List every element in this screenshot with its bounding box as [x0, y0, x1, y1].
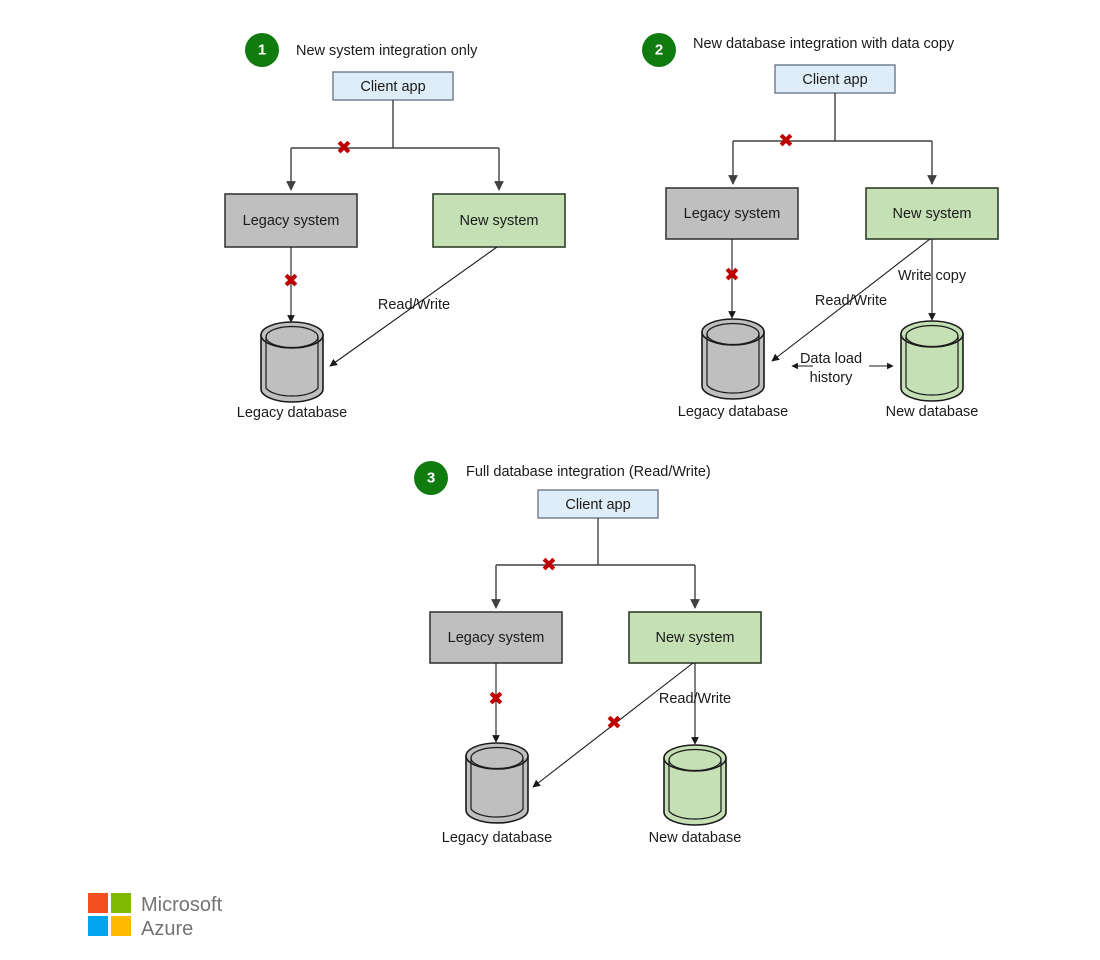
- panel-2-legacy-database-shape: [702, 319, 764, 399]
- panel-3-legacy-database-shape: [466, 743, 528, 823]
- panel-2-blocked-icon-legacy-db: ✖: [724, 264, 740, 286]
- panel-2-legacy-database-label: Legacy database: [678, 404, 788, 420]
- panel-2-blocked-icon-client-legacy: ✖: [778, 130, 794, 152]
- panel-3-badge-number: 3: [427, 470, 435, 487]
- panel-1-client-app-label: Client app: [360, 79, 425, 95]
- panel-1-blocked-icon-legacy-db: ✖: [283, 270, 299, 292]
- panel-1-badge-number: 1: [258, 42, 266, 59]
- panel-3-blocked-icon-new-legacy-db: ✖: [606, 712, 622, 734]
- logo-brand-text: Microsoft: [141, 894, 223, 916]
- panel-3-title: Full database integration (Read/Write): [466, 464, 711, 480]
- panel-1-legacy-database-label: Legacy database: [237, 405, 347, 421]
- panel-1-title: New system integration only: [296, 43, 478, 59]
- logo-square-red: [88, 893, 108, 913]
- panel-2-badge-number: 2: [655, 42, 663, 59]
- logo-square-blue: [88, 916, 108, 936]
- panel-2-new-database-label: New database: [886, 404, 979, 420]
- logo-square-yellow: [111, 916, 131, 936]
- panel-3-blocked-icon-legacy-db: ✖: [488, 688, 504, 710]
- panel-3-client-app-label: Client app: [565, 497, 630, 513]
- panel-2-title: New database integration with data copy: [693, 36, 955, 52]
- panel-2-edge-label-read-write: Read/Write: [815, 293, 887, 309]
- panel-3-new-database-label: New database: [649, 830, 742, 846]
- panel-1-new-system-label: New system: [460, 213, 539, 229]
- panel-2-new-database-shape: [901, 321, 963, 401]
- panel-3-new-system-label: New system: [656, 630, 735, 646]
- panel-3-edge-label-read-write: Read/Write: [659, 691, 731, 707]
- panel-3-new-database-shape: [664, 745, 726, 825]
- logo-product-text: Azure: [141, 918, 193, 940]
- panel-2-legacy-system-label: Legacy system: [684, 206, 781, 222]
- logo-square-green: [111, 893, 131, 913]
- panel-1-edge-label-read-write: Read/Write: [378, 297, 450, 313]
- panel-1-legacy-database-shape: [261, 322, 323, 402]
- diagram-canvas: 1 New system integration only Client app…: [0, 0, 1100, 960]
- panel-2-edge-label-data-load-line1: Data load: [800, 351, 862, 367]
- panel-2-new-system-label: New system: [893, 206, 972, 222]
- panel-2-client-app-label: Client app: [802, 72, 867, 88]
- panel-3-blocked-icon-client-legacy: ✖: [541, 554, 557, 576]
- panel-1-legacy-system-label: Legacy system: [243, 213, 340, 229]
- panel-3-legacy-system-label: Legacy system: [448, 630, 545, 646]
- panel-2-edge-label-data-load-line2: history: [810, 370, 853, 386]
- background: [0, 0, 1100, 960]
- panel-3-legacy-database-label: Legacy database: [442, 830, 552, 846]
- panel-1-blocked-icon-client-legacy: ✖: [336, 137, 352, 159]
- panel-2-edge-label-write-copy: Write copy: [898, 268, 967, 284]
